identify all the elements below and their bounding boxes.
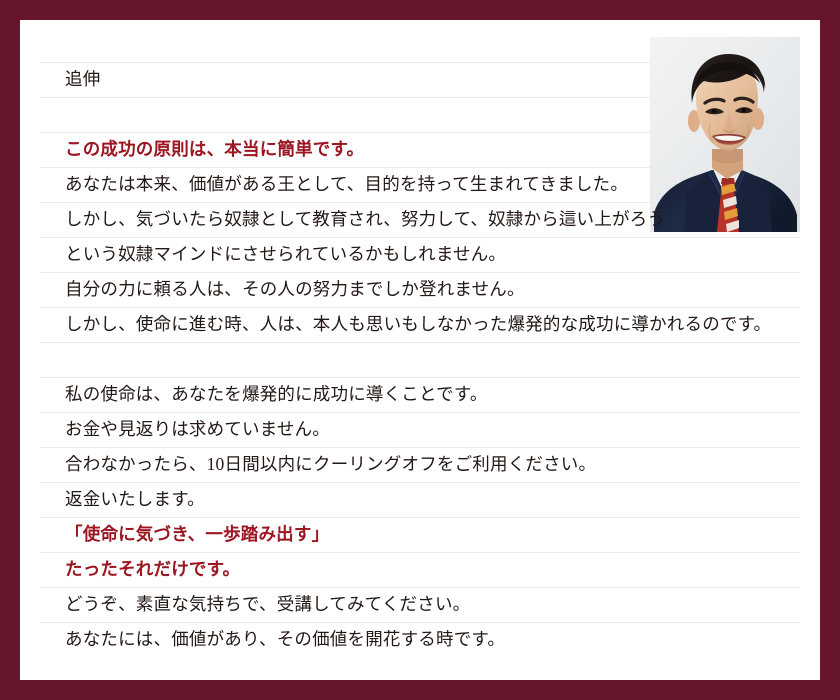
letter-line: 「使命に気づき、一歩踏み出す」	[65, 517, 805, 552]
paper-card: 追伸 この成功の原則は、本当に簡単です。あなたは本来、価値がある王として、目的を…	[20, 20, 820, 680]
letter-line: 私の使命は、あなたを爆発的に成功に導くことです。	[65, 377, 805, 412]
letter-line: 合わなかったら、10日間以内にクーリングオフをご利用ください。	[65, 447, 805, 482]
letter-line-blank	[65, 97, 805, 132]
letter-line: しかし、使命に進む時、人は、本人も思いもしなかった爆発的な成功に導かれるのです。	[65, 307, 805, 342]
letter-line: あなたには、価値があり、その価値を開花する時です。	[65, 622, 805, 657]
letter-line: お金や見返りは求めていません。	[65, 412, 805, 447]
letter-line-blank	[65, 657, 805, 680]
letter-line: どうぞ、素直な気持ちで、受講してみてください。	[65, 587, 805, 622]
letter-line-blank	[65, 342, 805, 377]
letter-line: 返金いたします。	[65, 482, 805, 517]
letter-line: 追伸	[65, 62, 805, 97]
letter-body: 追伸 この成功の原則は、本当に簡単です。あなたは本来、価値がある王として、目的を…	[65, 62, 805, 680]
letter-line: この成功の原則は、本当に簡単です。	[65, 132, 805, 167]
letter-line: という奴隷マインドにさせられているかもしれません。	[65, 237, 805, 272]
letter-line: 自分の力に頼る人は、その人の努力までしか登れません。	[65, 272, 805, 307]
letter-line: しかし、気づいたら奴隷として教育され、努力して、奴隷から這い上がろう	[65, 202, 805, 237]
letter-frame: 追伸 この成功の原則は、本当に簡単です。あなたは本来、価値がある王として、目的を…	[0, 0, 840, 700]
letter-line: たったそれだけです。	[65, 552, 805, 587]
letter-line: あなたは本来、価値がある王として、目的を持って生まれてきました。	[65, 167, 805, 202]
